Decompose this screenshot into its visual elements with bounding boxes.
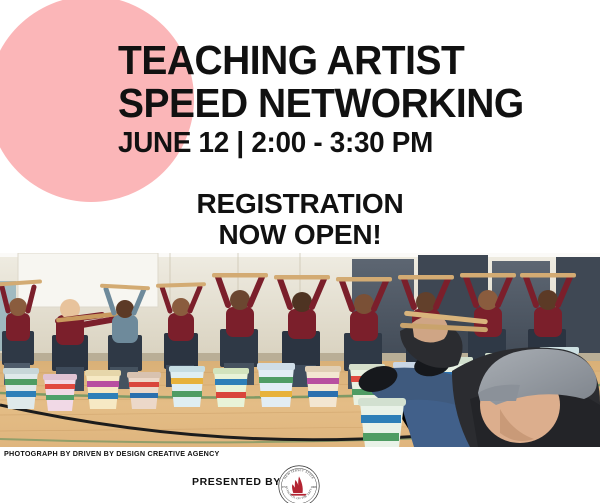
poster-canvas: TEACHING ARTIST SPEED NETWORKING JUNE 12… [0,0,600,503]
poster-footer: PHOTOGRAPH BY DRIVEN BY DESIGN CREATIVE … [0,447,600,503]
photo-credit-text: PHOTOGRAPH BY DRIVEN BY DESIGN CREATIVE … [4,449,220,458]
seal-est-label: EST. [282,485,288,489]
seal-year-label: 1966 [310,485,317,489]
sponsor-logo: NEW JERSEY STATE COUNCIL ON THE ARTS EST… [277,464,321,503]
cta-line-2: NOW OPEN! [0,221,600,249]
title-line-1: TEACHING ARTIST [118,40,464,81]
cta-line-1: REGISTRATION [0,190,600,218]
event-photograph [0,253,600,447]
event-date-time: JUNE 12 | 2:00 - 3:30 PM [118,129,433,158]
headline-text-block: TEACHING ARTIST SPEED NETWORKING JUNE 12… [0,0,600,253]
presented-by-label: PRESENTED BY [192,476,281,488]
arts-council-seal-icon: NEW JERSEY STATE COUNCIL ON THE ARTS EST… [277,464,321,503]
title-line-2: SPEED NETWORKING [118,83,524,124]
presented-by-row: PRESENTED BY [0,461,600,503]
photograph-illustration [0,253,600,447]
headline-section: TEACHING ARTIST SPEED NETWORKING JUNE 12… [0,0,600,253]
